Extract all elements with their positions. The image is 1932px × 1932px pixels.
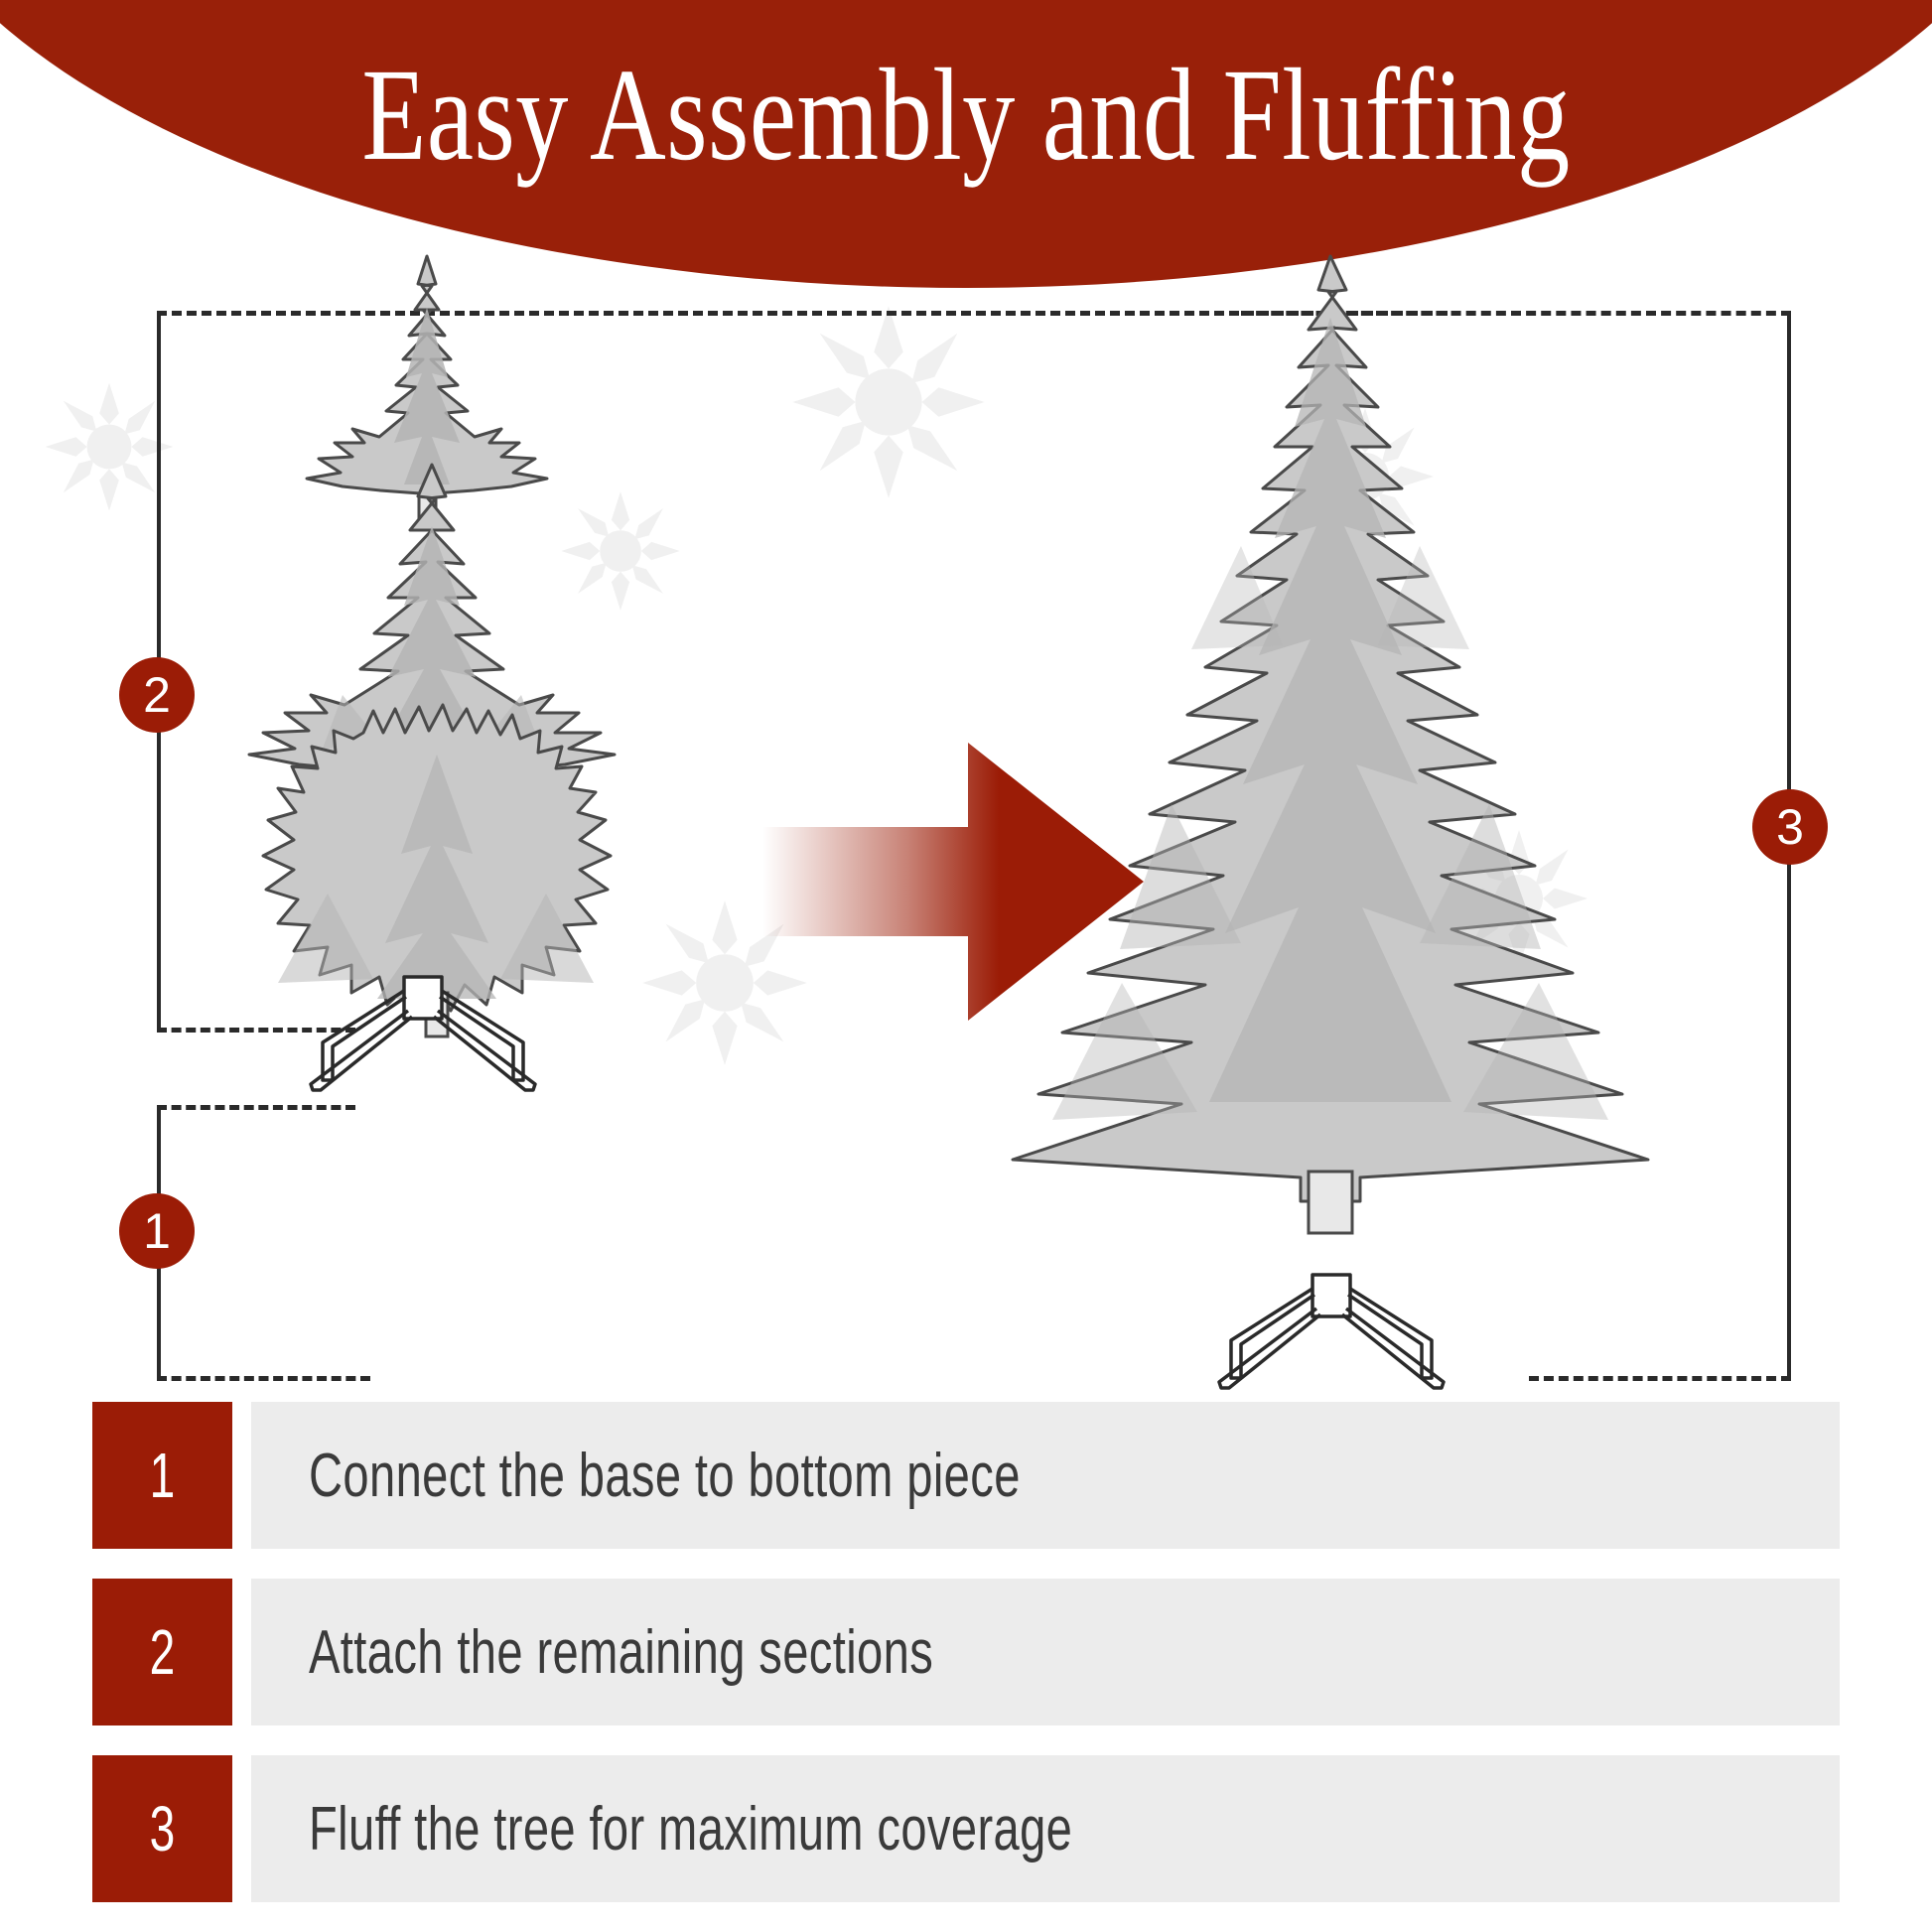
page-title: Easy Assembly and Fluffing bbox=[194, 0, 1739, 228]
assembly-diagram: 2 1 3 bbox=[0, 298, 1932, 1390]
callout-badge-2: 2 bbox=[119, 657, 195, 733]
step-row: 2 Attach the remaining sections bbox=[92, 1579, 1840, 1725]
callout-badge-2-label: 2 bbox=[143, 666, 171, 724]
tree-stand-base bbox=[1181, 1271, 1479, 1400]
callout-badge-3: 3 bbox=[1752, 789, 1828, 865]
callout-badge-1-label: 1 bbox=[143, 1202, 171, 1260]
tree-stand-base bbox=[293, 973, 551, 1102]
step-row: 1 Connect the base to bottom piece bbox=[92, 1402, 1840, 1549]
step-text: Attach the remaining sections bbox=[309, 1579, 933, 1725]
callout-badge-1: 1 bbox=[119, 1193, 195, 1269]
step-number-box: 1 bbox=[92, 1402, 232, 1549]
step-text: Connect the base to bottom piece bbox=[309, 1402, 1021, 1549]
step-text: Fluff the tree for maximum coverage bbox=[309, 1755, 1072, 1902]
step-number-box: 3 bbox=[92, 1755, 232, 1902]
steps-list: 1 Connect the base to bottom piece 2 Att… bbox=[0, 1390, 1932, 1932]
step-number: 3 bbox=[112, 1755, 213, 1902]
snowflake-icon bbox=[784, 298, 993, 506]
step-number: 2 bbox=[112, 1579, 213, 1725]
assembled-fluffed-tree bbox=[993, 248, 1668, 1271]
step-row: 3 Fluff the tree for maximum coverage bbox=[92, 1755, 1840, 1902]
step-number: 1 bbox=[112, 1402, 213, 1549]
callout-badge-3-label: 3 bbox=[1776, 798, 1804, 856]
step-number-box: 2 bbox=[92, 1579, 232, 1725]
